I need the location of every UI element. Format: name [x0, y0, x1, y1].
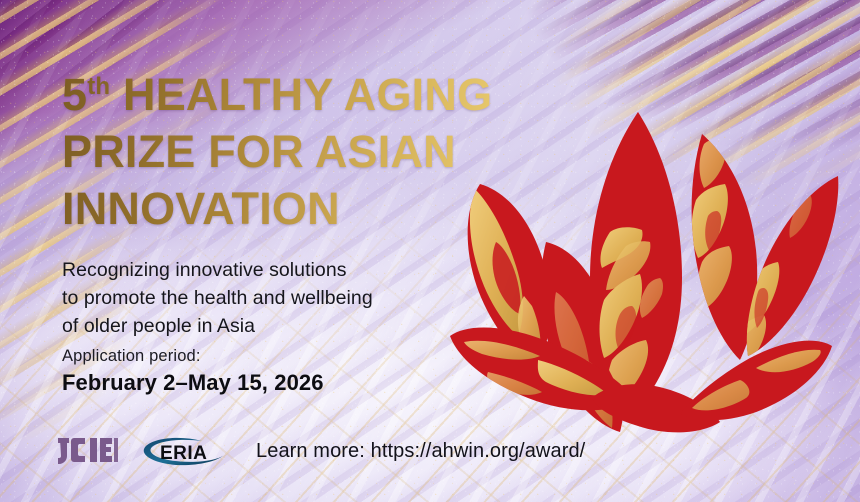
- page-title: 5th HEALTHY AGING PRIZE FOR ASIAN INNOVA…: [62, 66, 582, 237]
- headline-line-3: INNOVATION: [62, 180, 582, 237]
- footer: ERIA Learn more: https://ahwin.org/award…: [58, 434, 585, 468]
- svg-text:ERIA: ERIA: [160, 443, 207, 464]
- award-url[interactable]: https://ahwin.org/award/: [371, 440, 586, 462]
- headline-ordinal: 5: [62, 69, 87, 120]
- jcie-logo[interactable]: [58, 434, 120, 468]
- subheading-line-1: Recognizing innovative solutions: [62, 256, 462, 284]
- learn-more[interactable]: Learn more: https://ahwin.org/award/: [256, 438, 585, 464]
- headline-line-2: PRIZE FOR ASIAN: [62, 123, 582, 180]
- application-period: Application period: February 2–May 15, 2…: [62, 345, 324, 398]
- subheading-line-3: of older people in Asia: [62, 312, 462, 340]
- headline-text-1: HEALTHY AGING: [123, 69, 492, 120]
- application-period-label: Application period:: [62, 345, 324, 368]
- subheading: Recognizing innovative solutions to prom…: [62, 256, 462, 340]
- headline-ordinal-suffix: th: [87, 73, 110, 100]
- eria-logo[interactable]: ERIA: [140, 434, 232, 468]
- application-period-dates: February 2–May 15, 2026: [62, 368, 324, 398]
- headline-line-1: 5th HEALTHY AGING: [62, 66, 582, 123]
- learn-more-label: Learn more:: [256, 440, 365, 462]
- healthy-aging-prize-banner: 5th HEALTHY AGING PRIZE FOR ASIAN INNOVA…: [0, 0, 860, 502]
- banner-content: 5th HEALTHY AGING PRIZE FOR ASIAN INNOVA…: [0, 0, 860, 502]
- subheading-line-2: to promote the health and wellbeing: [62, 284, 462, 312]
